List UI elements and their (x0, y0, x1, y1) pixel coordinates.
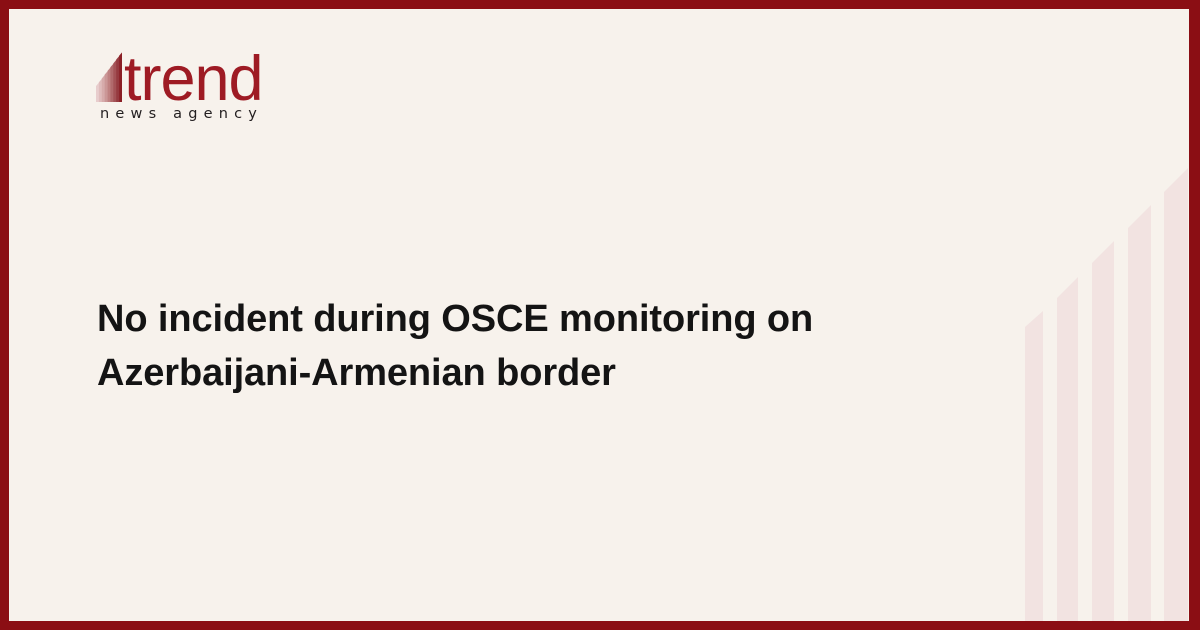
card-border-right (1189, 0, 1200, 630)
trend-news-agency-logo[interactable]: trend news agency (96, 44, 263, 122)
card-border-bottom (0, 621, 1200, 630)
card-border-top (0, 0, 1200, 9)
decorative-bar (1164, 168, 1188, 621)
decorative-bar (1057, 277, 1078, 621)
page-title: No incident during OSCE monitoring on Az… (97, 293, 927, 401)
decorative-bar (1092, 241, 1114, 621)
logo-primary-row: trend (96, 44, 263, 102)
logomark-stripe (96, 82, 99, 102)
logomark-stripe (102, 75, 105, 102)
logomark-stripe (105, 71, 108, 102)
decorative-bar (1025, 311, 1043, 621)
social-share-card: trend news agency No incident during OSC… (0, 0, 1200, 630)
trend-ascending-bars-logomark (96, 52, 122, 102)
logomark-stripe (116, 56, 119, 102)
ascending-bar-chart-watermark (1009, 0, 1189, 621)
logo-wordmark: trend (124, 53, 263, 106)
logomark-stripe (113, 60, 116, 102)
card-border-left (0, 0, 9, 630)
logomark-stripe (110, 63, 113, 102)
decorative-bar (1128, 205, 1151, 621)
logomark-stripe (108, 67, 111, 102)
logomark-stripe (99, 78, 102, 102)
logomark-stripe (119, 52, 122, 102)
